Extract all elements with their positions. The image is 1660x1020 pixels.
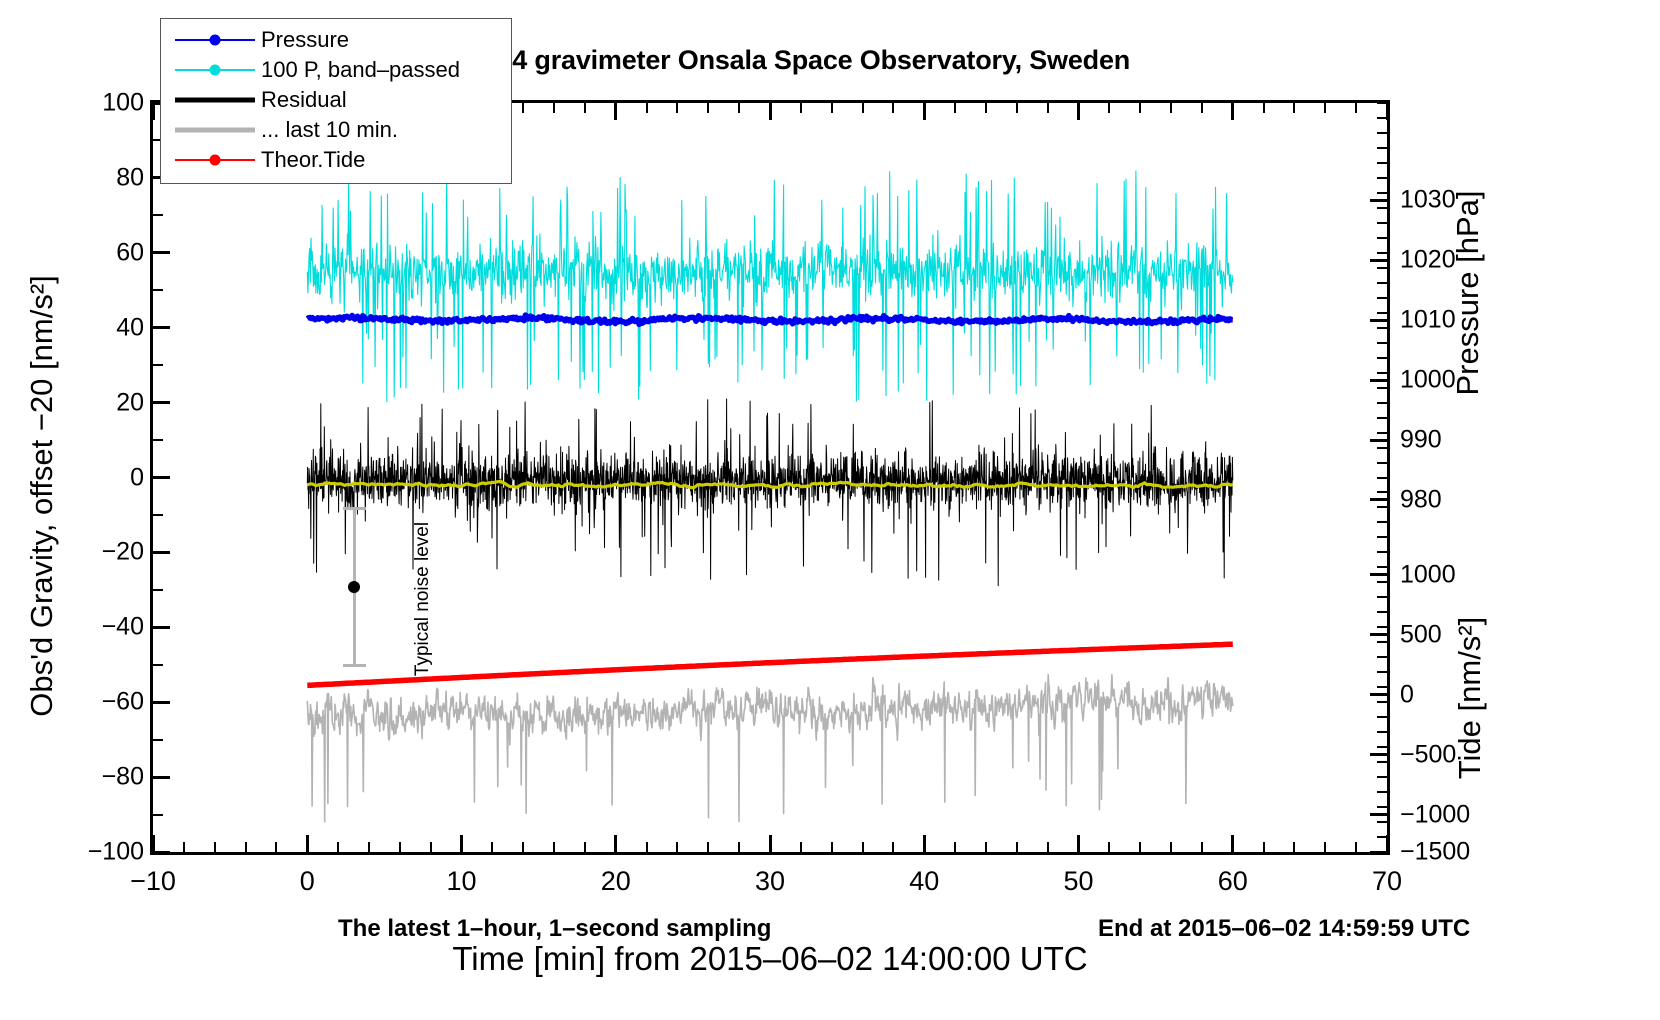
y-major-tick-left [153,776,170,779]
x-minor-tick-top [831,103,833,113]
x-major-tick-top [1386,103,1389,120]
x-minor-tick [1139,842,1141,852]
legend-item-0[interactable]: Pressure [169,25,503,55]
x-minor-tick-top [1355,103,1357,113]
x-minor-tick [831,842,833,852]
x-minor-tick-top [1324,103,1326,113]
x-minor-tick [1108,842,1110,852]
y-minor-tick-right [1377,746,1387,748]
y-minor-tick-right [1377,432,1387,434]
x-minor-tick [183,842,185,852]
x-major-tick-top [1231,103,1234,120]
y-minor-tick-right [1377,701,1387,703]
y-minor-tick-right [1377,821,1387,823]
legend-item-1[interactable]: 100 P, band–passed [169,55,503,85]
legend-label: 100 P, band–passed [261,57,460,83]
x-minor-tick [522,842,524,852]
x-minor-tick-top [584,103,586,113]
legend-label: Theor.Tide [261,147,365,173]
y-minor-tick-left [153,739,163,741]
y-minor-tick-right [1377,491,1387,493]
y-minor-tick-right [1377,402,1387,404]
x-major-tick-top [1077,103,1080,120]
y-minor-tick-right [1377,357,1387,359]
y-major-tick-left [153,476,170,479]
x-major-tick [152,835,155,852]
y-minor-tick-right [1377,566,1387,568]
noise-center-dot [348,581,360,593]
x-tick-label: 0 [247,866,367,897]
legend-marker-dot-icon [210,65,221,76]
x-minor-tick-top [1016,103,1018,113]
y-minor-tick-right [1377,611,1387,613]
y-minor-tick-right [1377,462,1387,464]
y-minor-tick-left [153,214,163,216]
series-pressure [307,315,1233,324]
y-minor-tick-right [1377,312,1387,314]
y-minor-tick-right [1377,536,1387,538]
x-major-tick [306,835,309,852]
y-major-tick-left [153,551,170,554]
y-major-tick-left [153,326,170,329]
y-minor-tick-left [153,814,163,816]
y-major-tick-pressure [1370,498,1387,501]
y-minor-tick-right [1377,581,1387,583]
y-major-tick-left [153,626,170,629]
x-minor-tick [1170,842,1172,852]
y-major-tick-left [153,401,170,404]
y-major-tick-pressure [1370,319,1387,322]
noise-cap-top [343,507,366,510]
y-minor-tick-right [1377,282,1387,284]
y-minor-tick-right [1377,417,1387,419]
x-minor-tick-top [1047,103,1049,113]
y-minor-tick-right [1377,297,1387,299]
x-tick-label: 50 [1019,866,1139,897]
x-minor-tick [275,842,277,852]
y-major-tick-pressure [1370,439,1387,442]
x-minor-tick [399,842,401,852]
y-minor-tick-left [153,589,163,591]
x-minor-tick-top [676,103,678,113]
x-minor-tick [553,842,555,852]
x-tick-label: 30 [710,866,830,897]
x-minor-tick [892,842,894,852]
y-minor-tick-right [1377,207,1387,209]
y-major-tick-tide [1370,753,1387,756]
series-theoretical-tide [307,644,1233,685]
legend-item-4[interactable]: Theor.Tide [169,145,503,175]
x-minor-tick [646,842,648,852]
y-minor-tick-right [1377,132,1387,134]
series-last-10-min [307,675,1233,822]
legend-label: Pressure [261,27,349,53]
y-minor-tick-right [1377,162,1387,164]
series-canvas [153,103,1387,852]
legend-item-3[interactable]: ... last 10 min. [169,115,503,145]
y-axis-left-title: Obs'd Gravity, offset −20 [nm/s²] [24,106,60,886]
legend-label: Residual [261,87,347,113]
y-minor-tick-right [1377,237,1387,239]
x-minor-tick [368,842,370,852]
x-minor-tick [1016,842,1018,852]
x-minor-tick [707,842,709,852]
y-minor-tick-right [1377,671,1387,673]
y-minor-tick-right [1377,626,1387,628]
x-minor-tick-top [1108,103,1110,113]
y-minor-tick-right [1377,641,1387,643]
x-tick-label: 40 [864,866,984,897]
x-minor-tick-top [1139,103,1141,113]
y-major-tick-pressure [1370,199,1387,202]
x-tick-label: 70 [1327,866,1447,897]
x-major-tick-top [614,103,617,120]
x-tick-label: −10 [93,866,213,897]
legend-line [175,98,255,103]
x-major-tick [923,835,926,852]
legend-marker-dot-icon [210,35,221,46]
legend-swatch-icon [169,59,261,81]
y-minor-tick-right [1377,477,1387,479]
annotation-end-time: End at 2015–06–02 14:59:59 UTC [1098,915,1470,943]
legend-swatch-icon [169,149,261,171]
x-minor-tick [738,842,740,852]
x-minor-tick [214,842,216,852]
y-minor-tick-right [1377,342,1387,344]
x-minor-tick [862,842,864,852]
x-minor-tick-top [553,103,555,113]
x-minor-tick [1263,842,1265,852]
legend-swatch-icon [169,89,261,111]
x-minor-tick-top [1293,103,1295,113]
noise-cap-bottom [343,664,366,667]
y-axis-tide-title: Tide [nm/s²] [1452,528,1488,868]
x-minor-tick [985,842,987,852]
series-bandpassed-pressure [307,171,1233,402]
x-minor-tick [491,842,493,852]
legend: Pressure100 P, band–passedResidual... la… [160,18,512,184]
x-minor-tick-top [522,103,524,113]
x-major-tick [1231,835,1234,852]
x-tick-label: 20 [556,866,676,897]
legend-label: ... last 10 min. [261,117,398,143]
y-major-tick-tide [1370,813,1387,816]
x-axis-title: Time [min] from 2015–06–02 14:00:00 UTC [150,940,1390,978]
x-minor-tick-top [707,103,709,113]
y-minor-tick-right [1377,761,1387,763]
x-major-tick [614,835,617,852]
x-minor-tick [337,842,339,852]
y-minor-tick-right [1377,327,1387,329]
y-minor-tick-right [1377,551,1387,553]
x-minor-tick-top [1170,103,1172,113]
y-minor-tick-right [1377,791,1387,793]
y-minor-tick-right [1377,177,1387,179]
x-minor-tick-top [985,103,987,113]
x-minor-tick-top [1263,103,1265,113]
y-minor-tick-right [1377,147,1387,149]
y-major-tick-left [153,701,170,704]
legend-line [175,128,255,133]
y-minor-tick-right [1377,656,1387,658]
x-minor-tick [676,842,678,852]
y-minor-tick-right [1377,731,1387,733]
x-major-tick [1077,835,1080,852]
y-minor-tick-left [153,664,163,666]
x-minor-tick [1324,842,1326,852]
series-residual [307,399,1233,586]
x-major-tick-top [152,103,155,120]
y-major-tick-left [153,851,170,854]
x-tick-label: 60 [1173,866,1293,897]
y-major-tick-tide [1370,633,1387,636]
typical-noise-level-label: Typical noise level [412,484,434,714]
x-minor-tick [1293,842,1295,852]
y-major-tick-tide [1370,573,1387,576]
y-minor-tick-right [1377,776,1387,778]
y-minor-tick-right [1377,716,1387,718]
x-minor-tick [1355,842,1357,852]
x-major-tick-top [769,103,772,120]
y-major-tick-pressure [1370,259,1387,262]
x-major-tick [460,835,463,852]
legend-item-2[interactable]: Residual [169,85,503,115]
y-axis-pressure-title: Pressure [hPa] [1450,83,1486,503]
x-minor-tick [1201,842,1203,852]
x-major-tick-top [923,103,926,120]
y-major-tick-left [153,251,170,254]
y-minor-tick-right [1377,506,1387,508]
x-minor-tick [245,842,247,852]
y-minor-tick-left [153,364,163,366]
legend-marker-dot-icon [210,155,221,166]
y-minor-tick-right [1377,447,1387,449]
y-major-tick-pressure [1370,379,1387,382]
x-tick-label: 10 [402,866,522,897]
legend-swatch-icon [169,29,261,51]
x-minor-tick [430,842,432,852]
y-minor-tick-right [1377,806,1387,808]
plot-area: The latest 1–hour, 1–second sampling End… [150,100,1390,855]
x-minor-tick-top [646,103,648,113]
x-minor-tick-top [800,103,802,113]
y-minor-tick-right [1377,222,1387,224]
y-minor-tick-right [1377,252,1387,254]
y-minor-tick-left [153,514,163,516]
x-minor-tick [1047,842,1049,852]
plot-canvas [153,103,1387,852]
x-minor-tick-top [954,103,956,113]
y-major-tick-tide [1370,693,1387,696]
x-major-tick [1386,835,1389,852]
y-minor-tick-right [1377,372,1387,374]
y-minor-tick-left [153,439,163,441]
x-major-tick [769,835,772,852]
x-minor-tick [954,842,956,852]
y-minor-tick-right [1377,267,1387,269]
y-minor-tick-right [1377,596,1387,598]
y-minor-tick-right [1377,686,1387,688]
x-minor-tick [584,842,586,852]
typical-noise-level-marker [339,507,369,667]
y-minor-tick-right [1377,387,1387,389]
x-minor-tick-top [892,103,894,113]
x-minor-tick [800,842,802,852]
y-minor-tick-right [1377,192,1387,194]
y-minor-tick-left [153,289,163,291]
x-minor-tick-top [862,103,864,113]
annotation-sampling-note: The latest 1–hour, 1–second sampling [338,915,771,943]
x-minor-tick-top [738,103,740,113]
x-minor-tick-top [1201,103,1203,113]
legend-swatch-icon [169,119,261,141]
y-minor-tick-right [1377,521,1387,523]
